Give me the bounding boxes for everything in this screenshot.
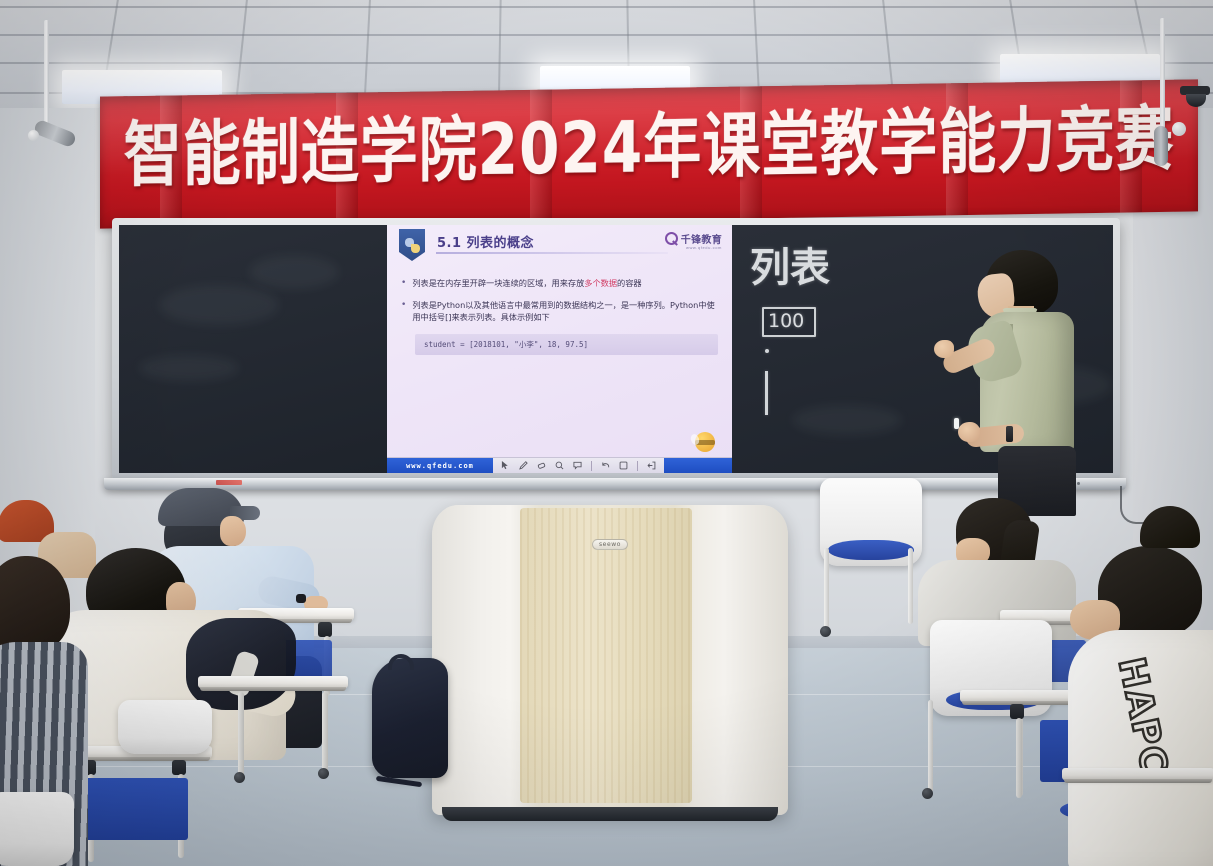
exit-icon[interactable] xyxy=(647,461,656,470)
chair-leg xyxy=(928,700,933,792)
desk-caster xyxy=(318,768,329,779)
taskbar-fill xyxy=(664,458,732,474)
desk-clamp xyxy=(318,622,332,637)
student-face xyxy=(220,516,246,546)
desk-leg xyxy=(1016,718,1022,798)
chalkboard-left xyxy=(119,225,387,473)
toolbar-divider xyxy=(591,461,592,471)
slide-title: 5.1 列表的概念 xyxy=(437,232,534,251)
brand-url: www.qfedu.com xyxy=(686,245,722,250)
slide-bullet: • 列表是在内存里开辟一块连续的区域，用来存放多个数据的容器 xyxy=(401,277,718,290)
comment-icon[interactable] xyxy=(573,461,582,470)
empty-chair[interactable] xyxy=(820,478,922,566)
chair-left-front[interactable] xyxy=(118,700,212,754)
bullet-text-pre: 列表是Python以及其他语言中最常用到的数据结构之一，是一种序列。Python… xyxy=(412,299,718,324)
slide-header: 5.1 列表的概念 千锋教育 www.qfedu.com xyxy=(387,225,732,261)
teacher-hand-raised xyxy=(934,340,954,358)
chalk-icon xyxy=(954,418,959,429)
slide-body: • 列表是在内存里开辟一块连续的区域，用来存放多个数据的容器 • 列表是Pyth… xyxy=(401,277,718,355)
slide-taskbar[interactable]: www.qfedu.com xyxy=(387,457,732,473)
student-hair-top xyxy=(1140,506,1200,548)
slide-bullet: • 列表是Python以及其他语言中最常用到的数据结构之一，是一种序列。Pyth… xyxy=(401,299,718,324)
banner-title: 智能制造学院2024年课堂教学能力竞赛 xyxy=(100,103,1198,191)
blackboard-stroke xyxy=(765,371,768,415)
lectern[interactable]: seewo xyxy=(432,505,788,815)
chair-leg xyxy=(908,548,913,624)
chair-seat xyxy=(828,540,914,560)
backpack xyxy=(372,658,448,778)
qianfeng-mark-icon xyxy=(665,232,678,245)
wristband xyxy=(296,594,306,603)
undo-icon[interactable] xyxy=(601,461,610,470)
lecture-slide: 5.1 列表的概念 千锋教育 www.qfedu.com • 列表是在内存里开 xyxy=(387,225,732,473)
teacher-hand-writing xyxy=(958,422,980,442)
classroom-photo: 智能制造学院2024年课堂教学能力竞赛 xyxy=(0,0,1213,866)
student-white-tee: HAPC xyxy=(1088,506,1213,866)
desk-clamp xyxy=(172,760,186,775)
chair-caster xyxy=(922,788,933,799)
chair-left-far[interactable] xyxy=(0,792,74,866)
student-hair xyxy=(0,556,70,652)
brand-name: 千锋教育 xyxy=(681,231,722,246)
lectern-panel xyxy=(520,508,692,803)
desk-right-front[interactable] xyxy=(1062,768,1213,784)
desk-leg xyxy=(238,692,244,776)
eraser-icon[interactable] xyxy=(537,461,546,470)
slide-code-sample: student = [2018101, "小李", 18, 97.5] xyxy=(415,334,718,355)
mascot-icon xyxy=(692,426,718,456)
chair-leg xyxy=(824,548,829,630)
lectern-brand-badge: seewo xyxy=(592,539,628,550)
smartboard-screen[interactable]: 5.1 列表的概念 千锋教育 www.qfedu.com • 列表是在内存里开 xyxy=(387,225,732,473)
teacher xyxy=(960,250,1088,512)
blackboard-box-value: 100 xyxy=(768,310,804,332)
bullet-dot-icon: • xyxy=(401,277,406,290)
desk-caster xyxy=(234,772,245,783)
teacher-watch xyxy=(1006,426,1013,442)
desk-clamp xyxy=(1010,704,1024,719)
page-icon[interactable] xyxy=(619,461,628,470)
desk-left-mid[interactable] xyxy=(198,676,348,692)
pen-icon[interactable] xyxy=(519,461,528,470)
competition-banner: 智能制造学院2024年课堂教学能力竞赛 xyxy=(100,79,1198,228)
desk-leg xyxy=(322,692,328,772)
taskbar-url[interactable]: www.qfedu.com xyxy=(387,458,493,474)
chair-caster xyxy=(820,626,831,637)
magnifier-icon[interactable] xyxy=(555,461,564,470)
bullet-text-pre: 列表是在内存里开辟一块连续的区域，用来存放 xyxy=(412,278,584,288)
title-underline xyxy=(436,252,668,254)
python-logo-icon xyxy=(399,229,425,261)
blackboard-dot xyxy=(765,349,769,353)
lectern-base xyxy=(442,807,778,821)
blackboard-written-text: 列表 xyxy=(750,235,830,293)
bullet-text-post: 的容器 xyxy=(617,278,642,288)
toolbar-divider xyxy=(637,461,638,471)
bullet-dot-icon: • xyxy=(401,299,406,324)
cursor-icon[interactable] xyxy=(501,461,510,470)
bullet-highlight: 多个数据 xyxy=(584,278,617,288)
brand-logo: 千锋教育 xyxy=(665,231,722,246)
